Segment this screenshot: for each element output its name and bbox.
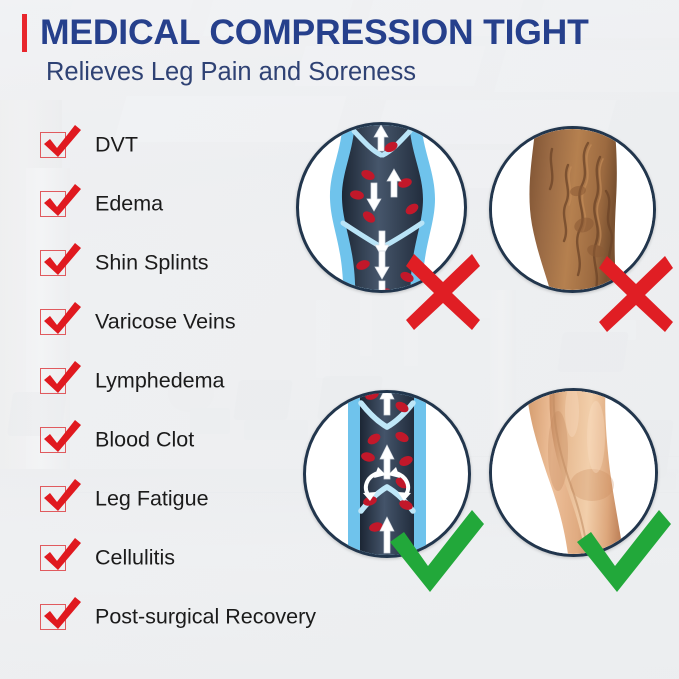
- accent-bar: [22, 14, 27, 52]
- checklist-item-8: Post-surgical Recovery: [0, 587, 300, 646]
- checklist-item-1: Edema: [0, 174, 300, 233]
- checklist-item-label: Blood Clot: [95, 427, 194, 452]
- checkbox-2[interactable]: [40, 244, 84, 282]
- checklist-item-6: Leg Fatigue: [0, 469, 300, 528]
- checkbox-0[interactable]: [40, 126, 84, 164]
- checklist-item-label: Edema: [95, 191, 163, 216]
- benefits-checklist: DVTEdemaShin SplintsVaricose VeinsLymphe…: [0, 115, 300, 646]
- cross-mark-icon: [593, 248, 679, 334]
- checklist-item-label: Leg Fatigue: [95, 486, 209, 511]
- checkbox-5[interactable]: [40, 421, 84, 459]
- check-icon: [39, 596, 83, 634]
- cross-mark-icon: [400, 246, 486, 332]
- check-icon: [39, 242, 83, 280]
- checklist-item-label: Post-surgical Recovery: [95, 604, 316, 629]
- check-icon: [39, 360, 83, 398]
- checklist-item-3: Varicose Veins: [0, 292, 300, 351]
- checklist-item-label: Varicose Veins: [95, 309, 236, 334]
- check-icon: [39, 419, 83, 457]
- checkbox-8[interactable]: [40, 598, 84, 636]
- check-icon: [39, 478, 83, 516]
- checklist-item-0: DVT: [0, 115, 300, 174]
- check-mark-icon: [386, 508, 486, 598]
- checklist-item-5: Blood Clot: [0, 410, 300, 469]
- checklist-item-label: Shin Splints: [95, 250, 209, 275]
- page-title: MEDICAL COMPRESSION TIGHT: [40, 12, 589, 53]
- header: MEDICAL COMPRESSION TIGHT Relieves Leg P…: [0, 0, 679, 100]
- page-subtitle: Relieves Leg Pain and Soreness: [46, 58, 416, 87]
- checklist-item-label: Cellulitis: [95, 545, 175, 570]
- checklist-item-label: DVT: [95, 132, 138, 157]
- checkbox-3[interactable]: [40, 303, 84, 341]
- checklist-item-2: Shin Splints: [0, 233, 300, 292]
- check-mark-icon: [573, 508, 673, 598]
- checkbox-7[interactable]: [40, 539, 84, 577]
- check-icon: [39, 183, 83, 221]
- check-icon: [39, 124, 83, 162]
- check-icon: [39, 537, 83, 575]
- checklist-item-label: Lymphedema: [95, 368, 224, 393]
- checkbox-4[interactable]: [40, 362, 84, 400]
- checklist-item-4: Lymphedema: [0, 351, 300, 410]
- checkbox-1[interactable]: [40, 185, 84, 223]
- check-icon: [39, 301, 83, 339]
- checklist-item-7: Cellulitis: [0, 528, 300, 587]
- checkbox-6[interactable]: [40, 480, 84, 518]
